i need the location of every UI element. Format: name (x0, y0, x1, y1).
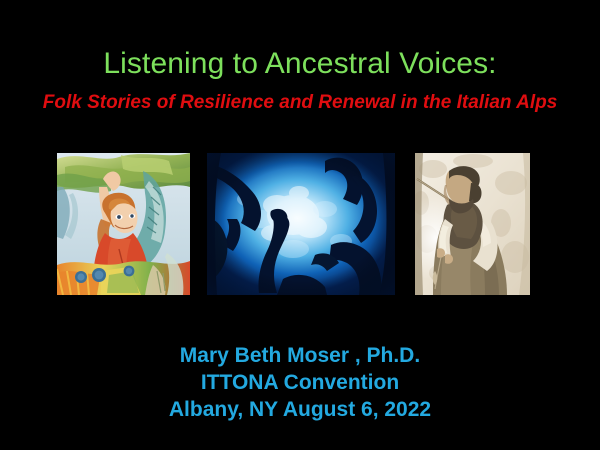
slide-title: Listening to Ancestral Voices: (0, 46, 600, 82)
credit-line-presenter: Mary Beth Moser , Ph.D. (0, 342, 600, 369)
image-blue-underwater-silhouettes (207, 153, 395, 295)
blue-underwater-silhouettes-artwork (207, 153, 395, 295)
watercolor-girl-with-foliage-artwork (57, 153, 190, 295)
credit-line-location-date: Albany, NY August 6, 2022 (0, 396, 600, 423)
presentation-slide: Listening to Ancestral Voices: Folk Stor… (0, 0, 600, 450)
image-watercolor-girl-with-foliage (57, 153, 190, 295)
image-sepia-woman-spinning (415, 153, 530, 295)
credit-line-event: ITTONA Convention (0, 369, 600, 396)
credits-block: Mary Beth Moser , Ph.D. ITTONA Conventio… (0, 342, 600, 423)
slide-subtitle: Folk Stories of Resilience and Renewal i… (0, 90, 600, 115)
image-row (0, 153, 600, 296)
sepia-woman-spinning-artwork (415, 153, 530, 295)
